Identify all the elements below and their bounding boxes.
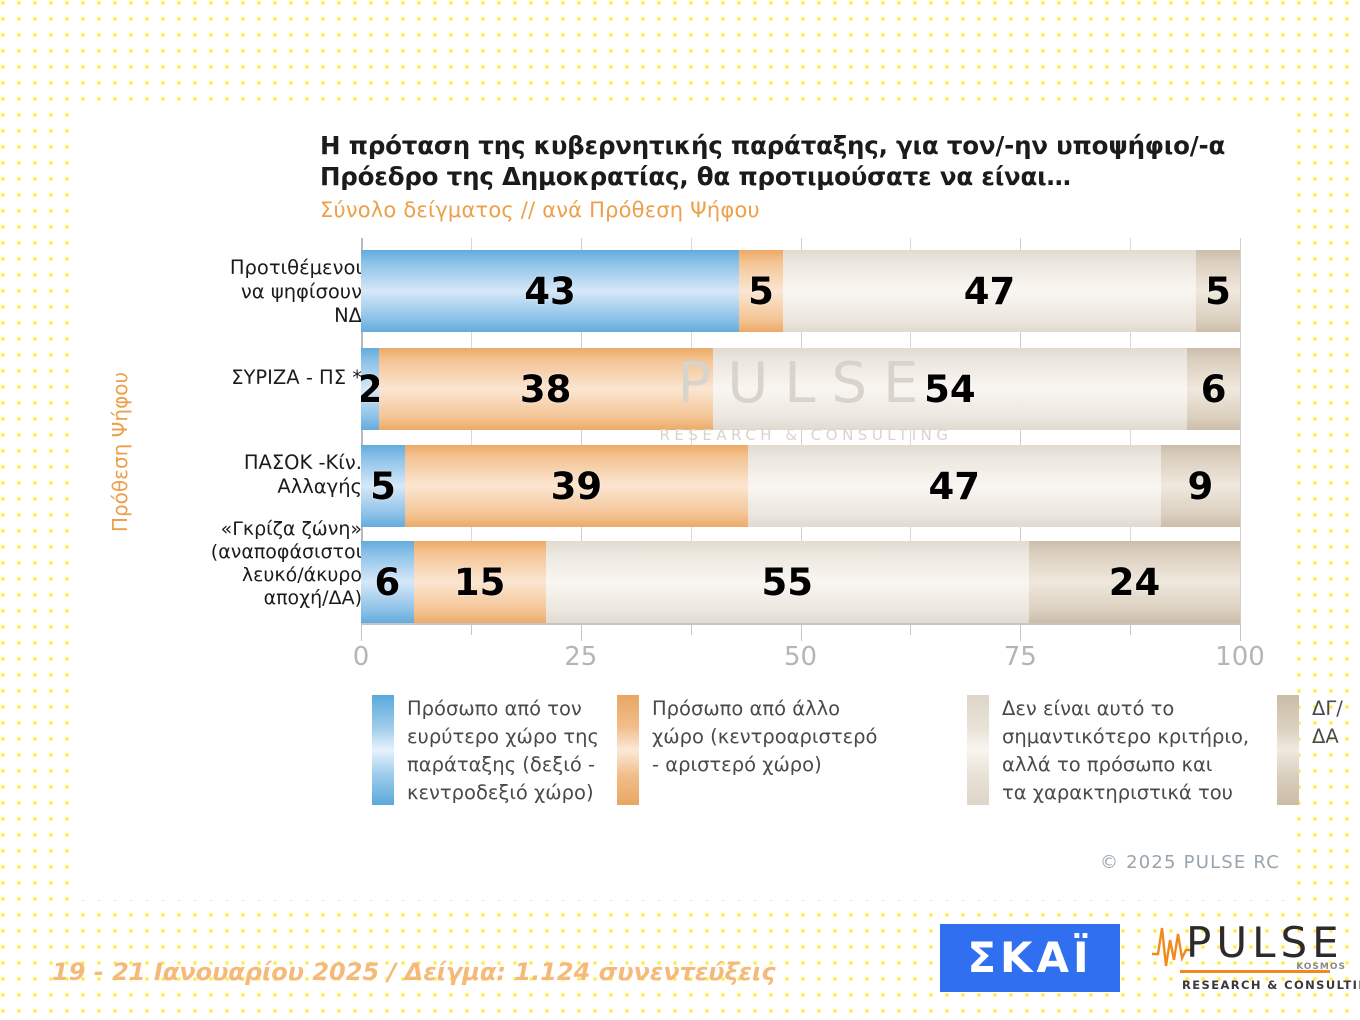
x-tick-minor	[471, 623, 472, 635]
pulse-logo-kosmos: KOSMOS	[1296, 962, 1346, 972]
legend-label: ΔΓ/ΔΑ	[1312, 695, 1360, 751]
bar-row[interactable]: 238546	[361, 348, 1240, 430]
pulse-logo: PULSE KOSMOS RESEARCH & CONSULTING	[1150, 918, 1340, 998]
bar-value-label: 54	[924, 371, 976, 408]
bar-value-label: 9	[1188, 468, 1214, 505]
x-tick	[1020, 623, 1021, 641]
bar-segment[interactable]: 38	[379, 348, 713, 430]
page-subtitle: Σύνολο δείγματος // ανά Πρόθεση Ψήφου	[320, 198, 1220, 222]
legend-swatch	[617, 695, 639, 805]
x-tick-minor	[910, 623, 911, 635]
bar-row[interactable]: 6155524	[361, 541, 1240, 623]
bar-segment[interactable]: 5	[1196, 250, 1240, 332]
bar-segment[interactable]: 6	[1187, 348, 1240, 430]
skai-logo: ΣΚΑΪ	[940, 924, 1120, 992]
x-tick-label: 0	[353, 642, 370, 672]
bar-segment[interactable]: 2	[361, 348, 379, 430]
legend-swatch	[1277, 695, 1299, 805]
legend-swatch	[372, 695, 394, 805]
chart-legend: Πρόσωπο από τονευρύτερο χώρο τηςπαράταξη…	[72, 695, 1290, 820]
legend-item[interactable]: Πρόσωπο από άλλοχώρο (κεντροαριστερό- αρ…	[617, 695, 992, 805]
x-tick-label: 100	[1215, 642, 1265, 672]
x-tick-label: 25	[564, 642, 597, 672]
x-tick-label: 50	[784, 642, 817, 672]
bar-value-label: 39	[551, 468, 603, 505]
bar-value-label: 6	[374, 564, 400, 601]
bar-value-label: 2	[361, 371, 379, 408]
legend-item[interactable]: Δεν είναι αυτό τοσημαντικότερο κριτήριο,…	[967, 695, 1292, 807]
title-block: Η πρόταση της κυβερνητικής παράταξης, γι…	[320, 130, 1220, 222]
bar-value-label: 55	[762, 564, 814, 601]
bar-segment[interactable]: 54	[713, 348, 1188, 430]
copyright-notice: © 2025 PULSE RC	[1100, 852, 1280, 873]
category-label: Προτιθέμενοινα ψηφίσουνΝΔ	[162, 256, 362, 328]
bar-segment[interactable]: 47	[783, 250, 1196, 332]
legend-item[interactable]: Πρόσωπο από τονευρύτερο χώρο τηςπαράταξη…	[372, 695, 642, 807]
bar-value-label: 5	[748, 273, 774, 310]
legend-label: Πρόσωπο από άλλοχώρο (κεντροαριστερό- αρ…	[652, 695, 992, 779]
stacked-bar-chart: Προτιθέμενοινα ψηφίσουνΝΔΣΥΡΙΖΑ - ΠΣ *ΠΑ…	[72, 238, 1290, 648]
logo-group: ΣΚΑΪ PULSE KOSMOS RESEARCH & CONSULTING	[940, 912, 1340, 1004]
legend-item[interactable]: ΔΓ/ΔΑ	[1277, 695, 1360, 805]
x-tick-minor	[691, 623, 692, 635]
bar-segment[interactable]: 43	[361, 250, 739, 332]
bar-row[interactable]: 539479	[361, 445, 1240, 527]
page-title-line-2: Πρόεδρο της Δημοκρατίας, θα προτιμούσατε…	[320, 161, 1220, 192]
bar-value-label: 15	[454, 564, 506, 601]
legend-label: Δεν είναι αυτό τοσημαντικότερο κριτήριο,…	[1002, 695, 1292, 807]
bar-value-label: 43	[524, 273, 576, 310]
bar-segment[interactable]: 55	[546, 541, 1029, 623]
category-label-group: Προτιθέμενοινα ψηφίσουνΝΔΣΥΡΙΖΑ - ΠΣ *ΠΑ…	[162, 238, 362, 623]
x-tick-label: 75	[1004, 642, 1037, 672]
content-panel: Η πρόταση της κυβερνητικής παράταξης, γι…	[72, 110, 1290, 900]
bar-value-label: 38	[520, 371, 572, 408]
bar-value-label: 5	[370, 468, 396, 505]
bar-segment[interactable]: 5	[361, 445, 405, 527]
bar-value-label: 5	[1205, 273, 1231, 310]
x-tick	[361, 623, 362, 641]
x-tick	[581, 623, 582, 641]
bar-segment[interactable]: 9	[1161, 445, 1240, 527]
category-label: «Γκρίζα ζώνη»(αναποφάσιστοιλευκό/άκυροαπ…	[162, 518, 362, 610]
bar-value-label: 24	[1109, 564, 1161, 601]
bar-segment[interactable]: 15	[414, 541, 546, 623]
category-label: ΠΑΣΟΚ -Κίν.Αλλαγής	[162, 451, 362, 499]
bar-value-label: 47	[964, 273, 1016, 310]
x-axis: 0255075100	[361, 623, 1240, 673]
bar-segment[interactable]: 39	[405, 445, 748, 527]
bar-segment[interactable]: 47	[748, 445, 1161, 527]
bar-row[interactable]: 435475	[361, 250, 1240, 332]
category-label: ΣΥΡΙΖΑ - ΠΣ *	[162, 366, 362, 390]
legend-swatch	[967, 695, 989, 805]
bar-segment[interactable]: 6	[361, 541, 414, 623]
bar-value-label: 6	[1201, 371, 1227, 408]
plot-area: PULSE RESEARCH & CONSULTING 435475238546…	[361, 238, 1240, 623]
x-tick-minor	[1130, 623, 1131, 635]
gridline	[1240, 238, 1241, 623]
footer-date-sample: 19 - 21 Ιανουαρίου 2025 / Δείγμα: 1.124 …	[52, 958, 776, 986]
bar-value-label: 47	[929, 468, 981, 505]
x-tick	[1240, 623, 1241, 641]
bar-segment[interactable]: 5	[739, 250, 783, 332]
x-tick	[801, 623, 802, 641]
legend-label: Πρόσωπο από τονευρύτερο χώρο τηςπαράταξη…	[407, 695, 642, 807]
pulse-logo-word: PULSE	[1186, 922, 1344, 964]
page-title-line-1: Η πρόταση της κυβερνητικής παράταξης, γι…	[320, 130, 1220, 161]
pulse-logo-subtitle: RESEARCH & CONSULTING	[1182, 978, 1360, 992]
bar-segment[interactable]: 24	[1029, 541, 1240, 623]
